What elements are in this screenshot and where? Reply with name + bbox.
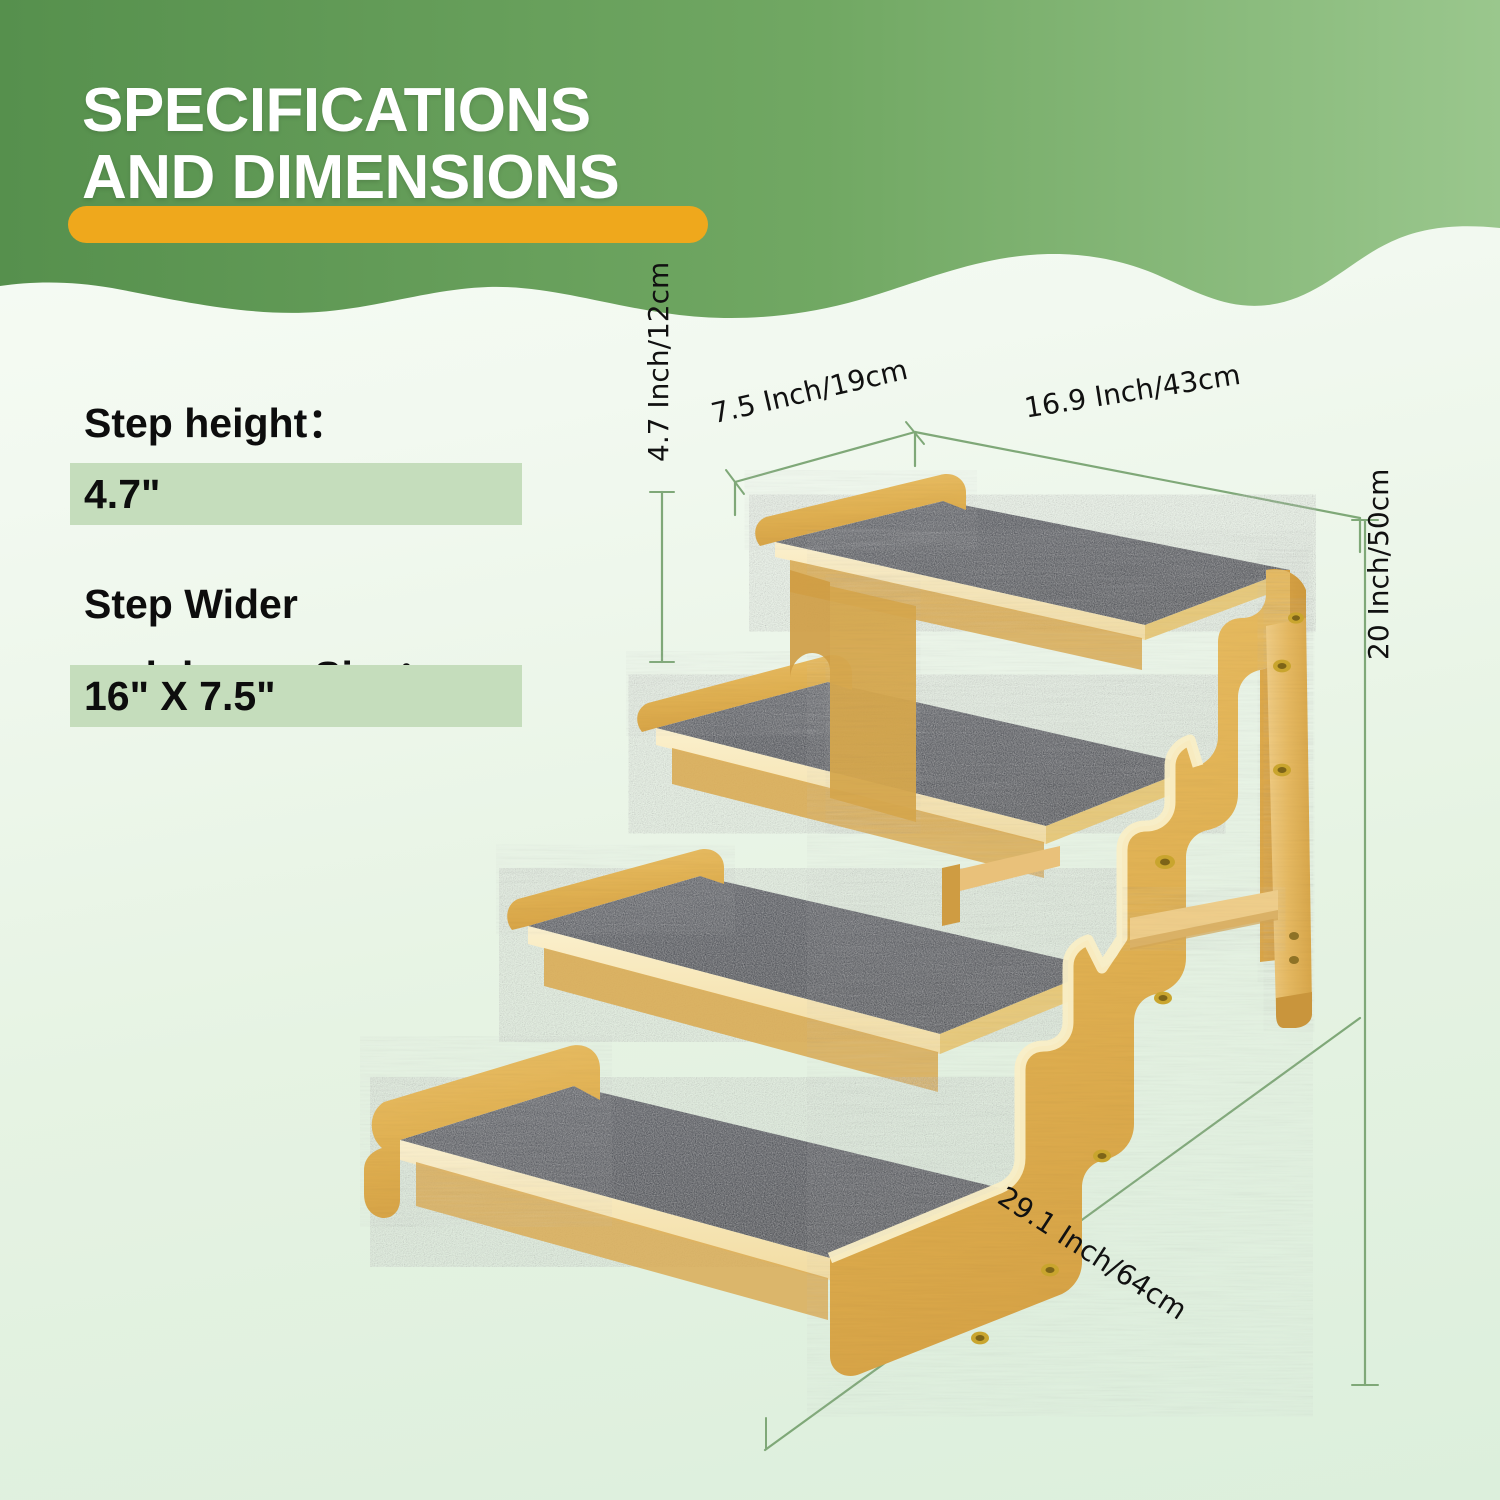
step2-under-brace-end: [942, 864, 960, 926]
page-title: SPECIFICATIONS AND DIMENSIONS: [82, 78, 982, 212]
specifications-block: Step height： 4.7" Step Wider and deeper …: [84, 398, 554, 705]
header-banner: SPECIFICATIONS AND DIMENSIONS: [0, 0, 1500, 340]
rear-leg-foot: [1276, 992, 1312, 1028]
dimension-label-total-height: 20 Inch/50cm: [1362, 469, 1395, 660]
step-height-label: Step height：: [84, 398, 554, 448]
step-size-value: 16" X 7.5": [84, 665, 276, 727]
step-size-label-line-1: Step Wider: [84, 579, 554, 629]
dimension-label-step-height: 4.7 Inch/12cm: [642, 262, 675, 462]
infographic-stage: SPECIFICATIONS AND DIMENSIONS Step heigh…: [0, 0, 1500, 1500]
inner-support-panel: [830, 586, 916, 822]
step-height-value: 4.7": [84, 463, 160, 525]
page-title-line-2: AND DIMENSIONS: [82, 145, 982, 212]
page-title-line-1: SPECIFICATIONS: [82, 78, 982, 145]
